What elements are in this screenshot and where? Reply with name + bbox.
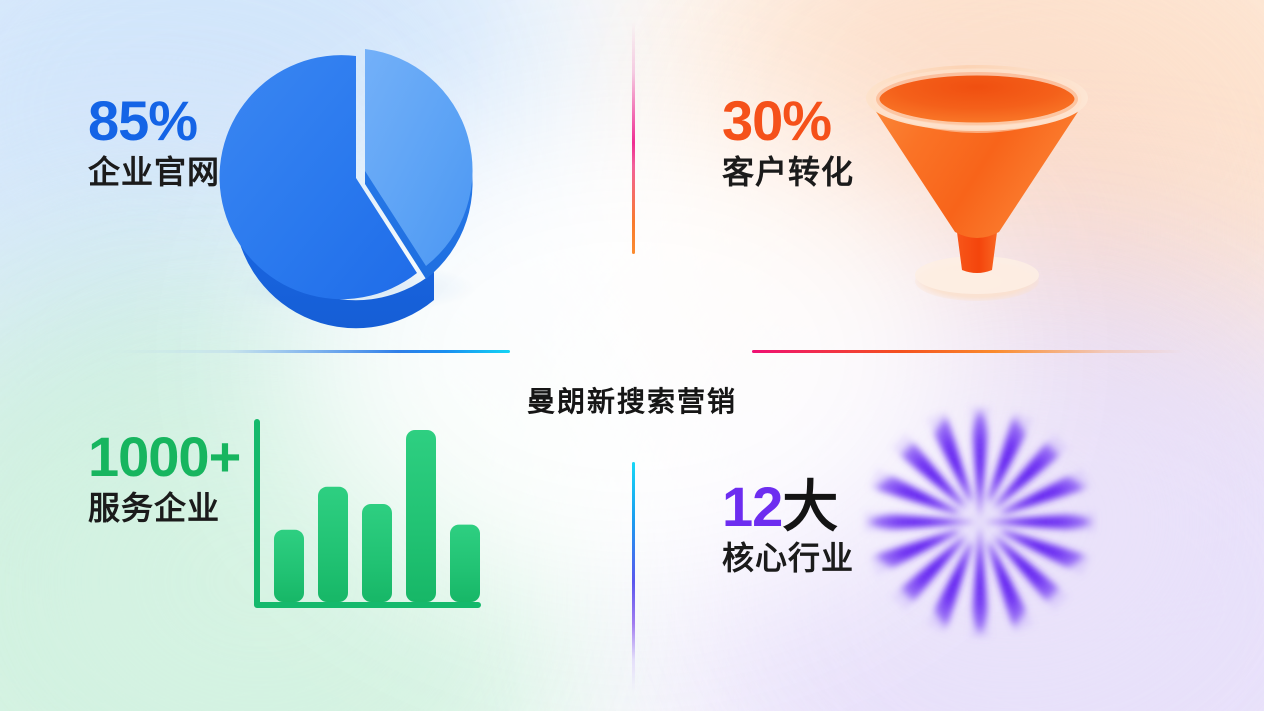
stat-block-clients: 1000+ 服务企业 xyxy=(88,428,240,528)
stat-value-clients: 1000+ xyxy=(88,428,240,485)
starburst-icon xyxy=(856,398,1104,646)
stat-value-websites: 85% xyxy=(88,92,220,149)
divider-horizontal-right xyxy=(752,350,1184,353)
stat-label-industries: 核心行业 xyxy=(722,539,854,577)
divider-horizontal-left xyxy=(108,350,510,353)
stat-label-conversion: 客户转化 xyxy=(722,153,854,191)
stat-block-websites: 85% 企业官网 xyxy=(88,92,220,192)
starburst-ray-15 xyxy=(891,433,980,522)
stat-label-websites: 企业官网 xyxy=(88,153,220,191)
pie-chart-icon xyxy=(222,50,494,318)
infographic-canvas: 85% 企业官网 xyxy=(0,0,1264,711)
stat-value-conversion: 30% xyxy=(722,92,854,149)
stat-value-industries-number: 12 xyxy=(722,475,782,538)
starburst-ray-3 xyxy=(980,433,1069,522)
starburst-ray-7 xyxy=(980,522,1069,611)
bar-3 xyxy=(362,504,392,602)
divider-vertical-top xyxy=(632,22,635,254)
starburst-rays xyxy=(864,406,1095,637)
starburst-ray-11 xyxy=(891,522,980,611)
divider-vertical-bottom xyxy=(632,462,635,692)
center-caption: 曼朗新搜索营销 xyxy=(0,380,1264,420)
bar-2 xyxy=(318,487,348,602)
bar-4 xyxy=(406,430,436,602)
bar-1 xyxy=(274,530,304,602)
stat-label-clients: 服务企业 xyxy=(88,489,240,527)
funnel-icon xyxy=(858,62,1096,312)
stat-block-conversion: 30% 客户转化 xyxy=(722,92,854,192)
stat-value-industries: 12大 xyxy=(722,478,854,535)
bar-5 xyxy=(450,525,480,602)
bar-chart-icon xyxy=(238,398,490,630)
stat-block-industries: 12大 核心行业 xyxy=(722,478,854,578)
bar-series xyxy=(274,430,480,602)
stat-value-industries-suffix: 大 xyxy=(782,475,837,538)
